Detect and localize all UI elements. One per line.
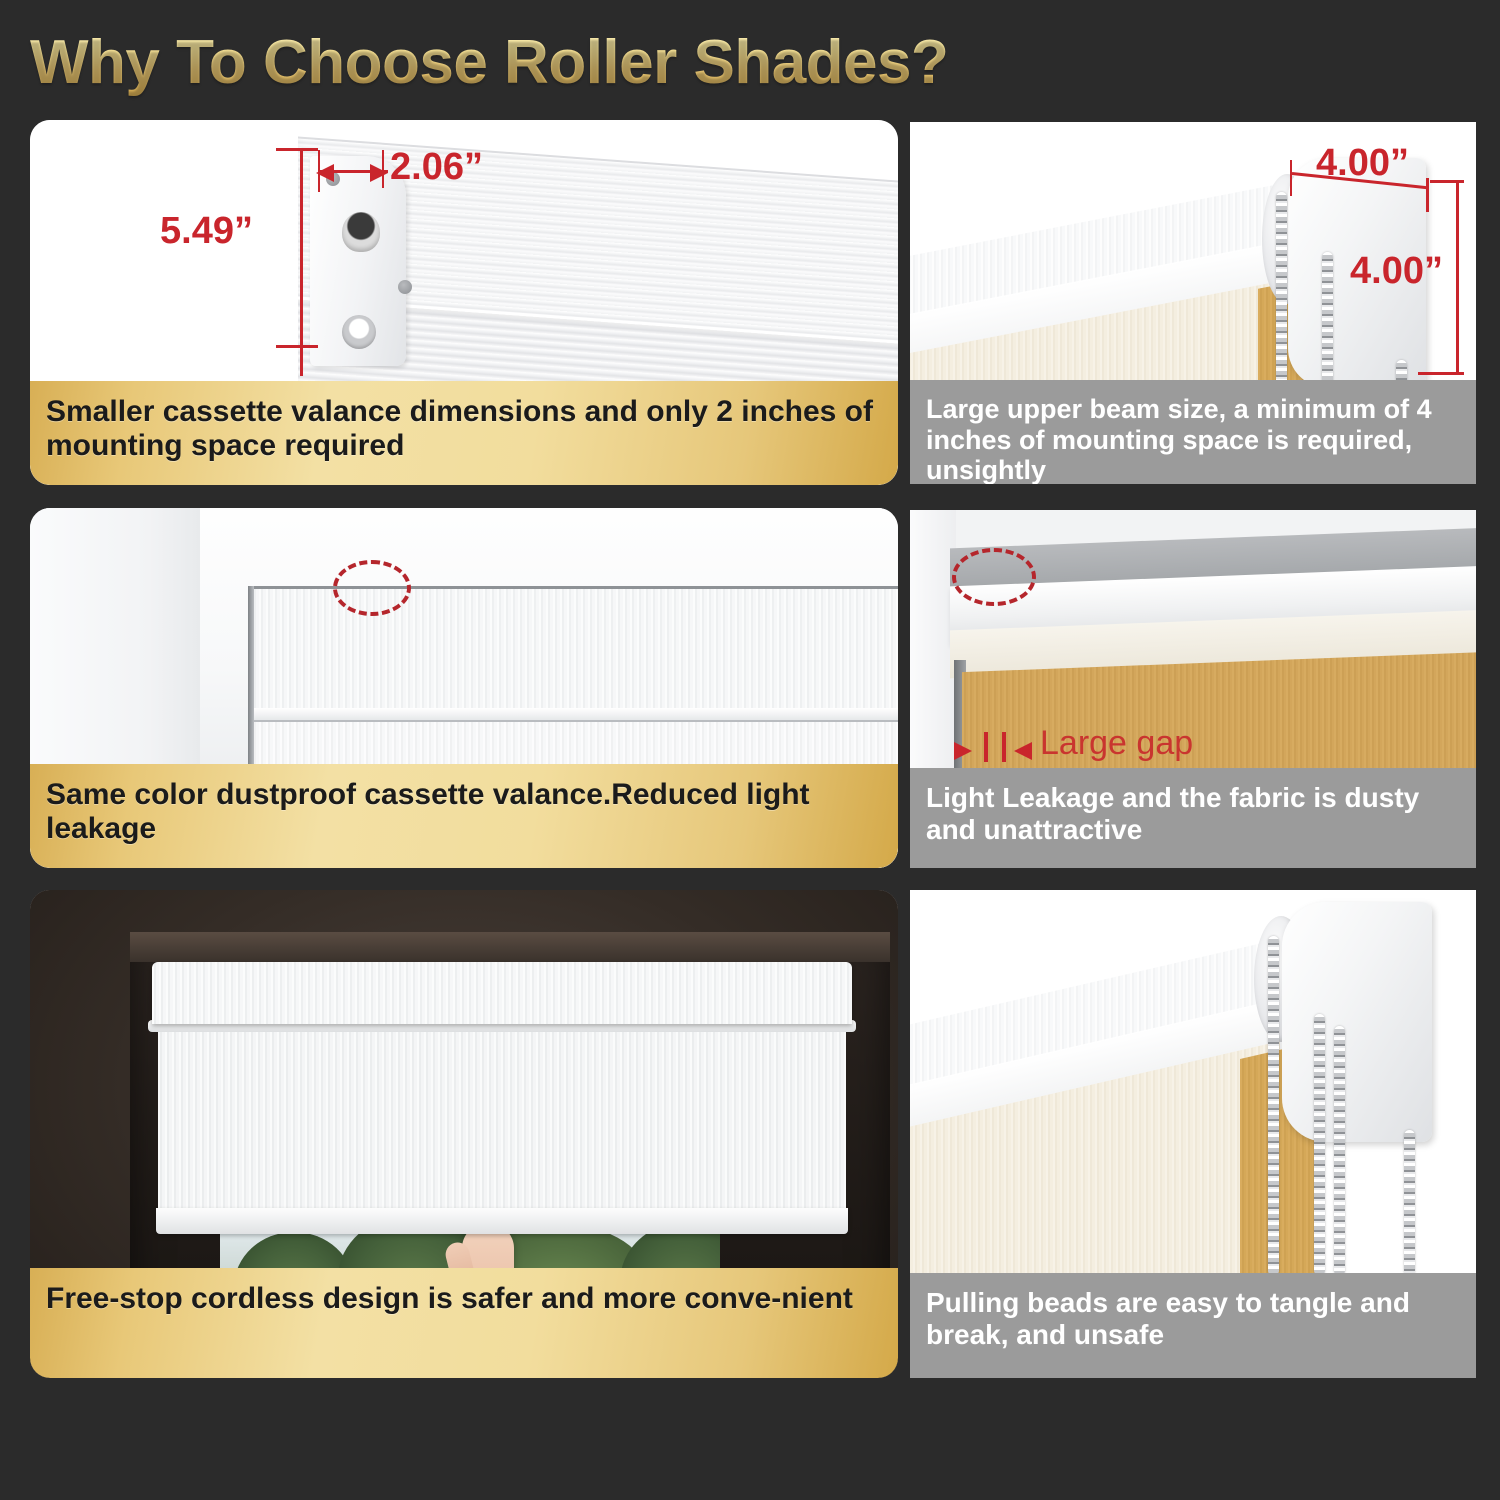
valance-knob-lower [342, 315, 376, 349]
dimension-cap-bottom [1418, 372, 1464, 375]
mounting-bracket [1282, 902, 1432, 1142]
dimension-arrow-left-icon [316, 164, 334, 182]
panel-large-upper-beam: 4.00” 4.00” Large upper beam size, a min… [910, 122, 1476, 484]
gap-arrow-right-icon [954, 742, 972, 760]
panel-caption: Smaller cassette valance dimensions and … [30, 381, 898, 485]
panel-smaller-cassette: 2.06” 5.49” Smaller cassette valance dim… [30, 120, 898, 485]
screw-icon [398, 280, 412, 294]
shade-cassette-valance [152, 962, 852, 1024]
shade-bottom-rail [156, 1208, 848, 1234]
panel-cordless-design: Free-stop cordless design is safer and m… [30, 890, 898, 1378]
dimension-cap-top [1430, 180, 1464, 183]
panel-light-leakage: Large gap Light Leakage and the fabric i… [910, 510, 1476, 868]
bead-chain-right [1404, 1130, 1415, 1276]
highlight-ellipse-gap [333, 560, 411, 616]
valance-knob-upper [342, 212, 380, 252]
gap-tick-left [984, 732, 988, 762]
gap-arrow-left-icon [1014, 742, 1032, 760]
dimension-label-height: 5.49” [160, 210, 253, 253]
highlight-ellipse-gap [952, 548, 1036, 606]
bead-chain-left [1268, 936, 1279, 1276]
dimension-line-height [1456, 180, 1459, 374]
dimension-label-width: 2.06” [390, 146, 483, 189]
dimension-tick-right [1426, 178, 1429, 212]
dimension-label-height: 4.00” [1350, 250, 1443, 293]
panel-caption: Pulling beads are easy to tangle and bre… [910, 1273, 1476, 1378]
panel-caption: Light Leakage and the fabric is dusty an… [910, 768, 1476, 868]
bead-chain-middle [1314, 1014, 1325, 1276]
dimension-line-vertical [300, 148, 303, 376]
gap-label: Large gap [1040, 724, 1193, 763]
comparison-grid: 2.06” 5.49” Smaller cassette valance dim… [0, 0, 1500, 1500]
panel-pulling-beads: Pulling beads are easy to tangle and bre… [910, 890, 1476, 1378]
dimension-tick-left [1290, 160, 1292, 196]
window-side-wall [30, 508, 200, 808]
window-header-trim [130, 932, 890, 962]
gap-tick-right [1002, 732, 1006, 762]
shade-fabric-upper [158, 1032, 846, 1212]
panel-caption: Same color dustproof cassette valance.Re… [30, 764, 898, 868]
panel-caption: Free-stop cordless design is safer and m… [30, 1268, 898, 1378]
dimension-cap-top [276, 148, 318, 151]
bead-chain-middle-2 [1334, 1026, 1345, 1276]
dimension-label-width: 4.00” [1316, 142, 1409, 185]
panel-caption: Large upper beam size, a minimum of 4 in… [910, 380, 1476, 484]
panel-dustproof-cassette: smaller gap Same color dustproof cassett… [30, 508, 898, 868]
dimension-cap-bottom [276, 345, 318, 348]
dimension-arrow-right-icon [370, 164, 388, 182]
